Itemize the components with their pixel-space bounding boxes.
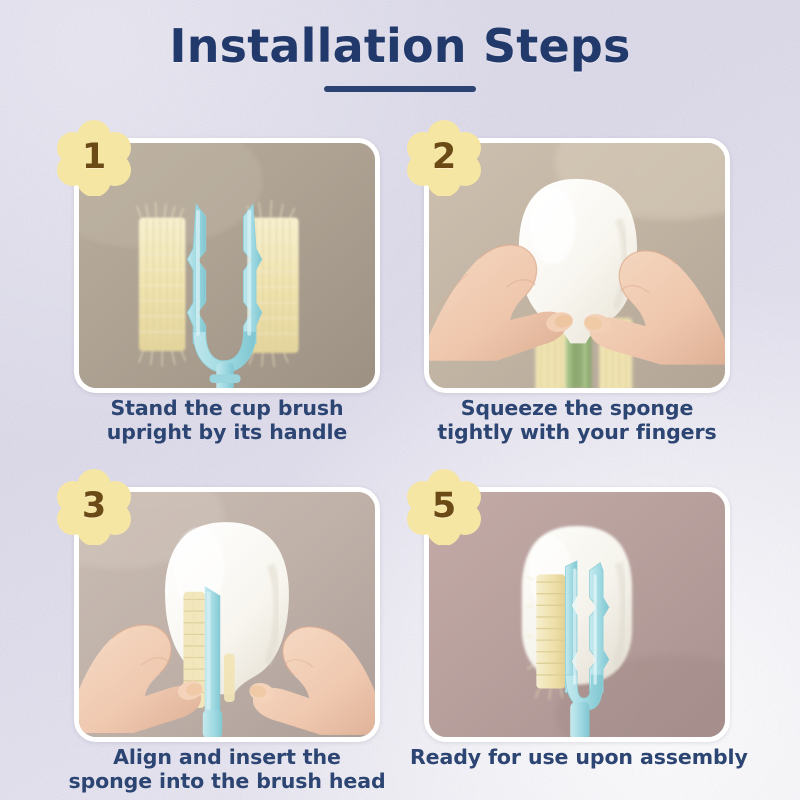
step-caption-3: Align and insert the sponge into the bru… [60, 745, 394, 793]
step-number: 1 [82, 140, 106, 175]
step-badge-1: 1 [56, 120, 132, 196]
step-number: 3 [82, 489, 106, 524]
caption-line: Align and insert the [60, 745, 394, 769]
caption-line: upright by its handle [60, 420, 394, 444]
caption-line: Ready for use upon assembly [410, 745, 744, 769]
caption-line: sponge into the brush head [60, 769, 394, 793]
step-caption-1: Stand the cup brush upright by its handl… [60, 396, 394, 444]
step-caption-2: Squeeze the sponge tightly with your fin… [410, 396, 744, 444]
page-header: Installation Steps [0, 0, 800, 118]
step-caption-5: Ready for use upon assembly [410, 745, 744, 769]
step-number: 2 [432, 140, 456, 175]
step-badge-3: 3 [56, 469, 132, 545]
step-number: 5 [432, 489, 456, 524]
step-card-5[interactable]: 5 Ready for use upon assembly [424, 487, 730, 788]
step-card-1[interactable]: 1 Stand the cup brush upright by its han… [74, 138, 380, 439]
caption-line: tightly with your fingers [410, 420, 744, 444]
caption-line: Stand the cup brush [60, 396, 394, 420]
step-card-3[interactable]: 3 Align and insert the sponge into the b… [74, 487, 380, 788]
caption-line: Squeeze the sponge [410, 396, 744, 420]
title-underline [324, 86, 476, 92]
step-badge-5: 5 [406, 469, 482, 545]
step-badge-2: 2 [406, 120, 482, 196]
page-title: Installation Steps [0, 22, 800, 70]
installation-steps-page: Installation Steps [0, 0, 800, 800]
step-card-2[interactable]: 2 Squeeze the sponge tightly with your f… [424, 138, 730, 439]
steps-grid: 1 Stand the cup brush upright by its han… [74, 138, 730, 788]
